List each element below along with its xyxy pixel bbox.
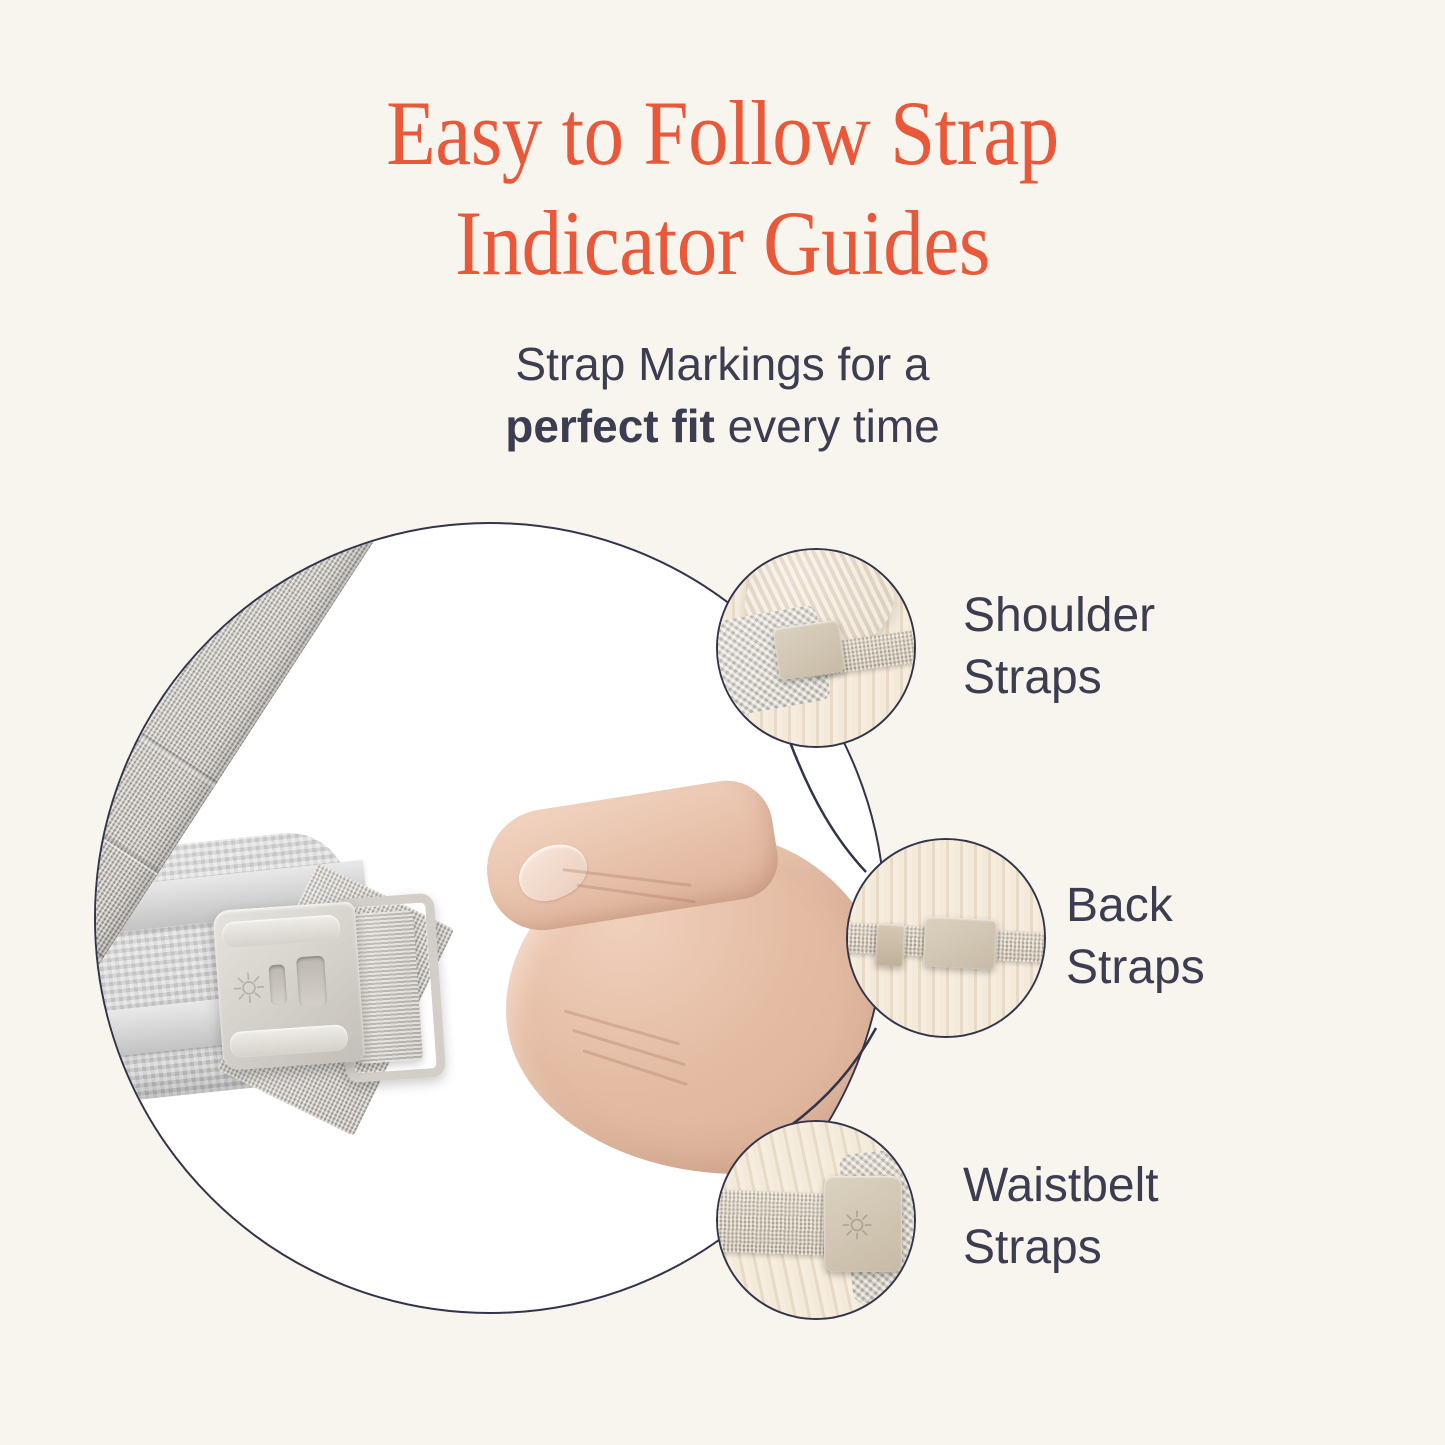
connector-back-to-waistbelt	[790, 1028, 876, 1126]
callout-label-back-line-2: Straps	[1066, 937, 1205, 999]
callout-label-waistbelt: Waistbelt Straps	[963, 1155, 1159, 1279]
callout-photo-waistbelt	[716, 1120, 916, 1320]
shoulder-strap-buckle	[773, 620, 846, 681]
sun-logo-icon	[840, 1208, 874, 1242]
callout-photo-shoulder	[716, 548, 916, 748]
callout-label-shoulder-line-2: Straps	[963, 647, 1155, 709]
callout-label-back-line-1: Back	[1066, 875, 1205, 937]
callout-label-shoulder: Shoulder Straps	[963, 585, 1155, 709]
callout-label-waistbelt-line-1: Waistbelt	[963, 1155, 1159, 1217]
callout-label-back: Back Straps	[1066, 875, 1205, 999]
infographic-canvas: Easy to Follow Strap Indicator Guides St…	[0, 0, 1445, 1445]
callout-photo-back	[846, 838, 1046, 1038]
back-strap-slider-buckle	[923, 916, 998, 970]
callout-label-waistbelt-line-2: Straps	[963, 1217, 1159, 1279]
callout-label-shoulder-line-1: Shoulder	[963, 585, 1155, 647]
back-strap-tab	[875, 923, 905, 966]
